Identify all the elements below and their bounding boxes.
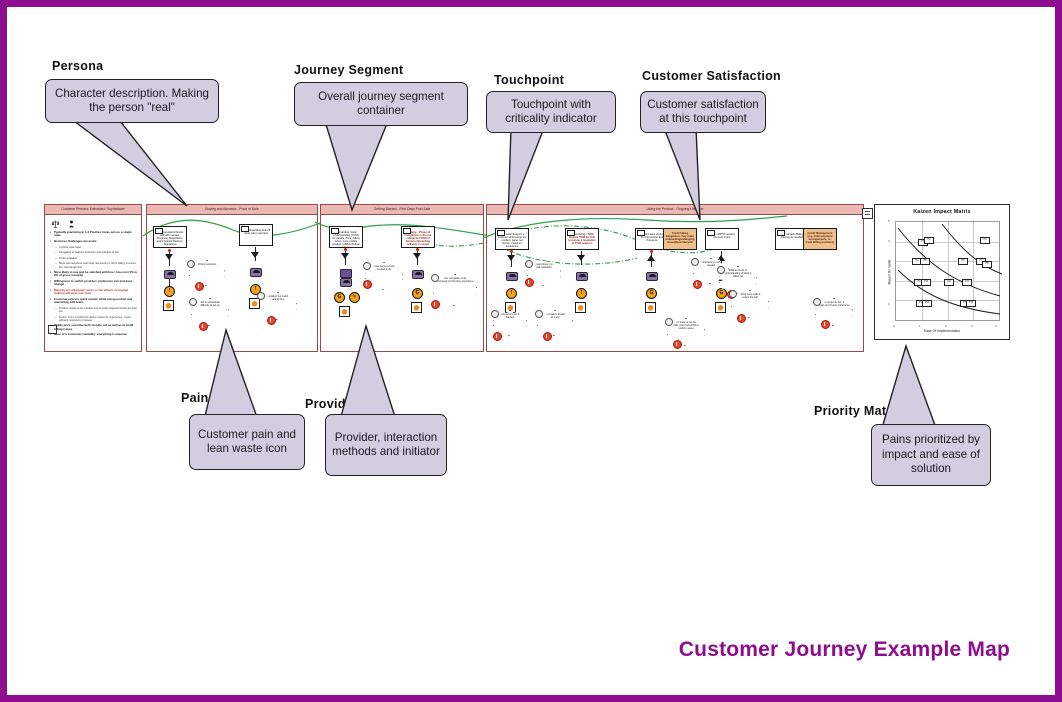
list-item: –Struggling to balance business and prac… xyxy=(55,251,138,254)
journey-segment-body: User asks Support a question while using… xyxy=(487,214,863,351)
persona-bullet-list: ▪Typically practicing in 1-2 Practice Ar… xyxy=(48,231,138,337)
provider-icon-phone xyxy=(340,278,352,287)
persona-footer-icon xyxy=(48,325,57,334)
pain-connector xyxy=(729,290,737,298)
connector xyxy=(169,278,170,286)
persona-header: Customer Persona: Enthusiast / Sophistic… xyxy=(45,205,141,215)
pain-severity-dot xyxy=(493,332,502,341)
provider-icon-mail xyxy=(340,269,352,278)
journey-segment-body: Seek reputation/brand, talk with contact… xyxy=(147,214,317,351)
pain-severity-dot xyxy=(737,314,746,323)
opportunity-box[interactable]: Credit billing integration, may make onb… xyxy=(663,228,697,250)
journey-segment-body: Onboarding: basic understanding (TOM) fo… xyxy=(321,214,483,351)
persona-body: ▪Typically practicing in 1-2 Practice Ar… xyxy=(45,215,141,337)
satisfaction-indicator: G xyxy=(412,288,423,299)
chart-title: Kaizen Impact Matrix xyxy=(875,209,1009,215)
annotation-label-pain: Pain xyxy=(181,391,209,405)
x-tick-label: 4 xyxy=(995,324,997,328)
journey-segment-0[interactable]: Buying and Advance - Point of Sale Seek … xyxy=(146,204,318,352)
list-item: –More worried about cash flow, accountin… xyxy=(55,262,138,268)
annotation-touchpoint: Touchpoint with criticality indicator xyxy=(486,91,616,133)
journey-map: Customer Persona: Enthusiast / Sophistic… xyxy=(44,204,880,352)
document-icon xyxy=(567,230,575,236)
slide-canvas: Persona Character description. Making th… xyxy=(16,16,1046,686)
pain-connector xyxy=(665,318,673,326)
opportunity-box[interactable]: Credit Management (e.g. make payment arr… xyxy=(803,228,837,250)
pain-connector xyxy=(257,292,265,300)
list-item: ▪Typically practicing in 1-2 Practice Ar… xyxy=(50,231,138,238)
data-point[interactable]: P2 xyxy=(924,237,934,244)
pain-severity-dot xyxy=(199,322,208,331)
criticality-triangle xyxy=(647,255,655,261)
touchpoint[interactable]: Accounting / TOM dispute TOM for firm to… xyxy=(565,228,599,250)
list-item: ▪Business challenges are acute: xyxy=(50,240,138,243)
document-icon xyxy=(777,230,785,236)
satisfaction-indicator: ✎ xyxy=(349,292,360,303)
list-item: –Product needs to be intuitive and provi… xyxy=(55,307,138,313)
lean-waste-icon xyxy=(645,302,656,313)
annotation-journey-segment: Overall journey segment container xyxy=(294,82,468,126)
annotation-label-journey-segment: Journey Segment xyxy=(294,63,403,77)
satisfaction-indicator: ! xyxy=(576,288,587,299)
pain-connector xyxy=(187,260,195,268)
pain-connector xyxy=(431,274,439,282)
x-tick-label: 1 xyxy=(919,324,921,328)
data-point[interactable]: P16 xyxy=(966,300,976,307)
kaizen-impact-matrix[interactable]: Kaizen Impact Matrix Impact On Value Eas… xyxy=(874,204,1010,340)
provider-icon-phone xyxy=(412,270,424,279)
criticality-triangle xyxy=(413,253,421,259)
touchpoint[interactable]: Pre-Onboarding kick-off (post sale) over… xyxy=(239,224,273,246)
pain-severity-dot xyxy=(267,316,276,325)
document-icon xyxy=(707,230,715,236)
lean-waste-icon xyxy=(575,302,586,313)
pain-severity-dot xyxy=(431,300,440,309)
data-point[interactable]: P3 xyxy=(980,237,990,244)
satisfaction-indicator: G xyxy=(334,292,345,303)
annotation-label-touchpoint: Touchpoint xyxy=(494,73,564,87)
data-point[interactable]: P5 xyxy=(920,258,930,265)
journey-segment-2[interactable]: Using the Product - Ongoing Lifecycle Us… xyxy=(486,204,864,352)
touchpoint[interactable]: Onboarding: basic understanding (TOM) fo… xyxy=(329,226,363,248)
touchpoint[interactable]: Seek reputation/brand, talk with contact… xyxy=(153,226,187,248)
touchpoint[interactable]: TOM / ABTM needed account mgmt xyxy=(705,228,739,250)
criticality-triangle xyxy=(165,254,173,260)
y-tick-label: 1 xyxy=(888,302,890,306)
pain-severity-dot xyxy=(673,340,682,349)
pain-severity-dot xyxy=(693,280,702,289)
document-icon xyxy=(241,226,249,232)
list-item: ▪Willingness to switch provider / prefer… xyxy=(50,280,138,287)
pain-connector xyxy=(691,258,699,266)
annotation-persona: Character description. Making the person… xyxy=(45,79,219,123)
provider-icon-phone xyxy=(576,272,588,281)
annotation-label-priority-matrix: Priority Matrx xyxy=(814,404,899,418)
y-tick-label: 2 xyxy=(888,281,890,285)
pain-severity-dot xyxy=(525,278,534,287)
pain-severity-dot xyxy=(821,320,830,329)
pain-connector xyxy=(189,298,197,306)
y-tick-label: 5 xyxy=(888,219,890,223)
data-point[interactable]: P14 xyxy=(922,300,932,307)
list-item: ▪Customer expects quick answer while usi… xyxy=(50,298,138,305)
pain-starburst[interactable]: Customer not aware of all items discusse… xyxy=(433,274,477,306)
criticality-triangle xyxy=(507,255,515,261)
touchpoint[interactable]: Training - Phase of completion is the jo… xyxy=(401,226,435,248)
data-point[interactable]: P11 xyxy=(944,279,954,286)
document-icon xyxy=(155,228,163,234)
annotation-customer-satisfaction: Customer satisfaction at this touchpoint xyxy=(640,91,766,133)
lean-waste-icon xyxy=(163,300,174,311)
y-tick-label: 4 xyxy=(888,239,890,243)
persona-panel[interactable]: Customer Persona: Enthusiast / Sophistic… xyxy=(44,204,142,352)
annotation-priority-matrix: Pains prioritized by impact and ease of … xyxy=(871,424,991,486)
data-point[interactable]: P12 xyxy=(962,279,972,286)
list-item: ▪More likely to use and be satisfied wit… xyxy=(50,271,138,278)
document-icon xyxy=(403,228,411,234)
page-title: Customer Journey Example Map xyxy=(679,638,1010,662)
annotation-provider: Provider, interaction methods and initia… xyxy=(325,414,447,476)
criticality-triangle xyxy=(577,255,585,261)
list-item: ▪Majority are infrequent users so the ef… xyxy=(50,289,138,296)
satisfaction-indicator: ! xyxy=(506,288,517,299)
pain-connector xyxy=(535,310,543,318)
pain-connector xyxy=(717,266,725,274)
data-point[interactable]: P8 xyxy=(982,261,992,268)
pain-connector xyxy=(491,310,499,318)
satisfaction-indicator: G xyxy=(646,288,657,299)
touchpoint[interactable]: User asks Support a question while using… xyxy=(495,228,529,250)
persona-icon-row xyxy=(52,220,138,228)
provider-icon-phone xyxy=(506,272,518,281)
annotation-pain: Customer pain and lean waste icon xyxy=(189,414,305,470)
pain-connector xyxy=(813,298,821,306)
list-item: ▪More of a consumer mentality: everythin… xyxy=(50,333,138,336)
criticality-triangle xyxy=(251,252,259,258)
x-tick-label: 0 xyxy=(893,324,895,328)
y-tick-label: 3 xyxy=(888,260,890,264)
pain-severity-dot xyxy=(195,282,204,291)
lean-waste-icon xyxy=(339,306,350,317)
annotation-label-provider: Provider xyxy=(305,397,358,411)
pain-severity-dot xyxy=(363,280,372,289)
satisfaction-indicator: ! xyxy=(164,286,175,297)
criticality-triangle xyxy=(341,253,349,259)
x-tick-label: 3 xyxy=(971,324,973,328)
provider-icon-phone xyxy=(250,268,262,277)
list-item: ▪Highly price sensitive both months out … xyxy=(50,324,138,331)
list-item: –Fewer, more touchpoints define customer… xyxy=(55,316,138,322)
annotation-label-persona: Persona xyxy=(52,59,103,73)
provider-icon-phone xyxy=(164,270,176,279)
chart-x-axis-label: Ease Of Implementation xyxy=(875,329,1009,333)
journey-segment-1[interactable]: Getting Started - First Days Post Sale O… xyxy=(320,204,484,352)
x-tick-label: 2 xyxy=(945,324,947,328)
pain-connector xyxy=(525,260,533,268)
legend-toggle-icon[interactable] xyxy=(862,208,873,219)
list-item: –Finite schedule xyxy=(55,257,138,260)
person-icon xyxy=(68,220,75,228)
document-icon xyxy=(637,230,645,236)
chart-plot-area: P1 P2 P3 P4 P5 P6 P7 P8 P9 P10 P11 P12 P… xyxy=(895,221,1000,321)
lean-waste-icon xyxy=(411,302,422,313)
document-icon xyxy=(331,228,339,234)
annotation-label-customer-satisfaction: Customer Satisfaction xyxy=(642,69,781,83)
data-point[interactable]: P10 xyxy=(921,279,931,286)
list-item: –Cyclical case load xyxy=(55,246,138,249)
pain-connector xyxy=(363,262,371,270)
document-icon xyxy=(497,230,505,236)
scales-icon xyxy=(52,220,59,228)
pain-severity-dot xyxy=(543,332,552,341)
satisfaction-indicator: G xyxy=(716,288,727,299)
slide-frame: Persona Character description. Making th… xyxy=(0,0,1062,702)
lean-waste-icon xyxy=(715,302,726,313)
data-point[interactable]: P6 xyxy=(958,258,968,265)
provider-icon-phone xyxy=(646,272,658,281)
